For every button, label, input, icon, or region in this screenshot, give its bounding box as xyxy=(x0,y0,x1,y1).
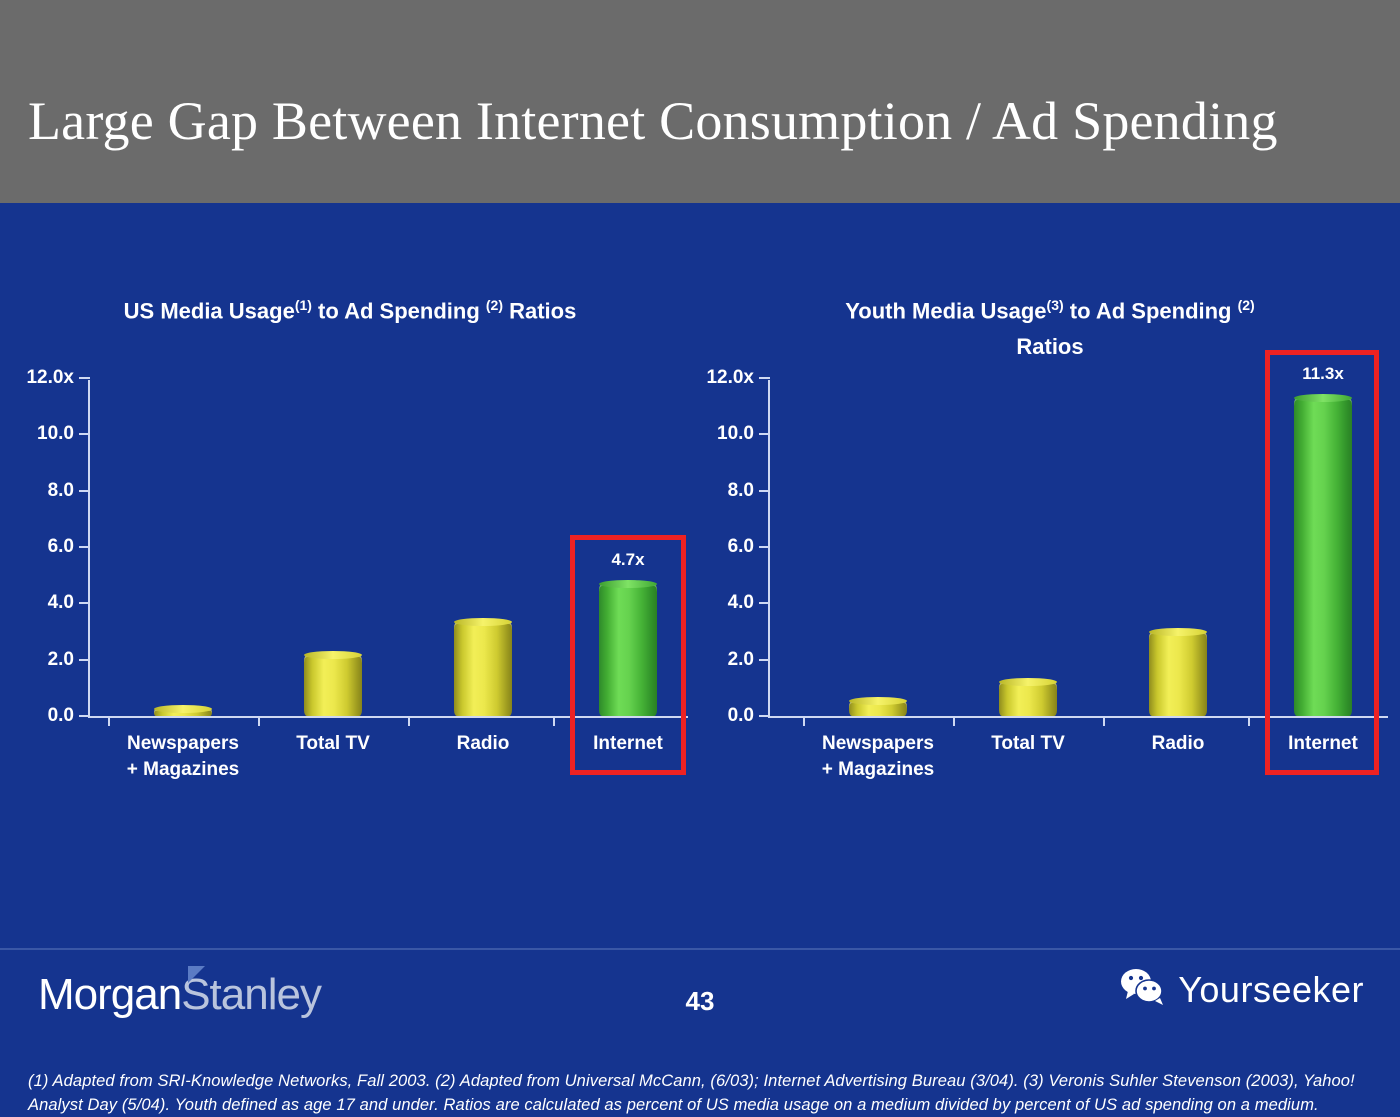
y-axis-tick-label: 4.0 xyxy=(728,592,754,614)
y-axis-tick-label: 2.0 xyxy=(728,649,754,671)
page-title: Large Gap Between Internet Consumption /… xyxy=(28,92,1278,150)
y-axis-tick-label: 10.0 xyxy=(37,423,74,445)
wechat-icon xyxy=(1120,968,1166,1011)
bar-2 xyxy=(1149,632,1207,717)
y-axis-tick-label: 0.0 xyxy=(728,705,754,727)
chart-title-mid: to Ad Spending xyxy=(1064,298,1238,323)
bar-top-cap xyxy=(1149,628,1207,636)
y-axis-line xyxy=(768,380,770,718)
x-axis-category-label: Total TV xyxy=(248,731,418,757)
highlight-box-internet xyxy=(1265,350,1379,775)
y-axis-tick-label: 8.0 xyxy=(48,480,74,502)
bar-0 xyxy=(154,709,212,716)
bar-1 xyxy=(999,682,1057,716)
y-axis-tick-label: 12.0x xyxy=(706,367,754,389)
chart-panel-youth-media: Youth Media Usage(3) to Ad Spending (2)R… xyxy=(700,203,1400,803)
chart-title-main: US Media Usage xyxy=(124,298,295,323)
x-axis-tick xyxy=(553,716,555,726)
chart-title-end: Ratios xyxy=(1016,334,1083,359)
bar-2 xyxy=(454,622,512,716)
y-axis-tick-label: 0.0 xyxy=(48,705,74,727)
bar-top-cap xyxy=(304,651,362,659)
bar-0 xyxy=(849,701,907,716)
y-axis-tick-label: 8.0 xyxy=(728,480,754,502)
bar-top-cap xyxy=(999,678,1057,686)
y-axis-tick xyxy=(759,377,770,379)
bar-1 xyxy=(304,655,362,716)
y-axis-tick-label: 6.0 xyxy=(48,536,74,558)
x-axis-tick xyxy=(1103,716,1105,726)
x-axis-category-label: Newspapers+ Magazines xyxy=(793,731,963,783)
footnote-text: (1) Adapted from SRI-Knowledge Networks,… xyxy=(28,1069,1373,1117)
slide-footer: MorganStanley 43 Yourseeker xyxy=(0,950,1400,1042)
y-axis-tick-label: 6.0 xyxy=(728,536,754,558)
y-axis-tick-label: 4.0 xyxy=(48,592,74,614)
chart-title-footnote-ref-3: (3) xyxy=(1047,297,1064,313)
y-axis-tick xyxy=(79,377,90,379)
chart-title-mid: to Ad Spending xyxy=(312,298,486,323)
slide-body: US Media Usage(1) to Ad Spending (2) Rat… xyxy=(0,203,1400,1042)
chart-title-us-media: US Media Usage(1) to Ad Spending (2) Rat… xyxy=(0,287,700,329)
slide-header: Large Gap Between Internet Consumption /… xyxy=(0,0,1400,203)
x-axis-tick xyxy=(803,716,805,726)
chart-panel-us-media: US Media Usage(1) to Ad Spending (2) Rat… xyxy=(0,203,700,803)
chart-title-end: Ratios xyxy=(503,298,576,323)
bar-top-cap xyxy=(849,697,907,705)
x-axis-tick xyxy=(953,716,955,726)
x-axis-tick xyxy=(408,716,410,726)
plot-area-youth-media: 0.02.04.06.08.010.012.0x11.3xNewspapers+… xyxy=(768,375,1388,720)
chart-title-main: Youth Media Usage xyxy=(845,298,1046,323)
y-axis-tick-label: 12.0x xyxy=(26,367,74,389)
x-axis-tick xyxy=(1248,716,1250,726)
plot-area-us-media: 0.02.04.06.08.010.012.0x4.7xNewspapers+ … xyxy=(88,375,688,720)
x-axis-tick xyxy=(108,716,110,726)
y-axis-line xyxy=(88,380,90,718)
bar-top-cap xyxy=(154,705,212,713)
morgan-stanley-triangle-icon xyxy=(188,966,205,983)
bar-top-cap xyxy=(454,618,512,626)
x-axis-category-label: Newspapers+ Magazines xyxy=(98,731,268,783)
x-axis-category-label: Total TV xyxy=(943,731,1113,757)
chart-title-footnote-ref-1: (1) xyxy=(295,297,312,313)
highlight-box-internet xyxy=(570,535,686,775)
y-axis-tick-label: 2.0 xyxy=(48,649,74,671)
chart-title-footnote-ref-2: (2) xyxy=(1238,297,1255,313)
x-axis-tick xyxy=(258,716,260,726)
y-axis-tick-label: 10.0 xyxy=(717,423,754,445)
chart-title-footnote-ref-2: (2) xyxy=(486,297,503,313)
brand-name: Yourseeker xyxy=(1178,969,1364,1011)
brand-watermark: Yourseeker xyxy=(1120,968,1364,1011)
